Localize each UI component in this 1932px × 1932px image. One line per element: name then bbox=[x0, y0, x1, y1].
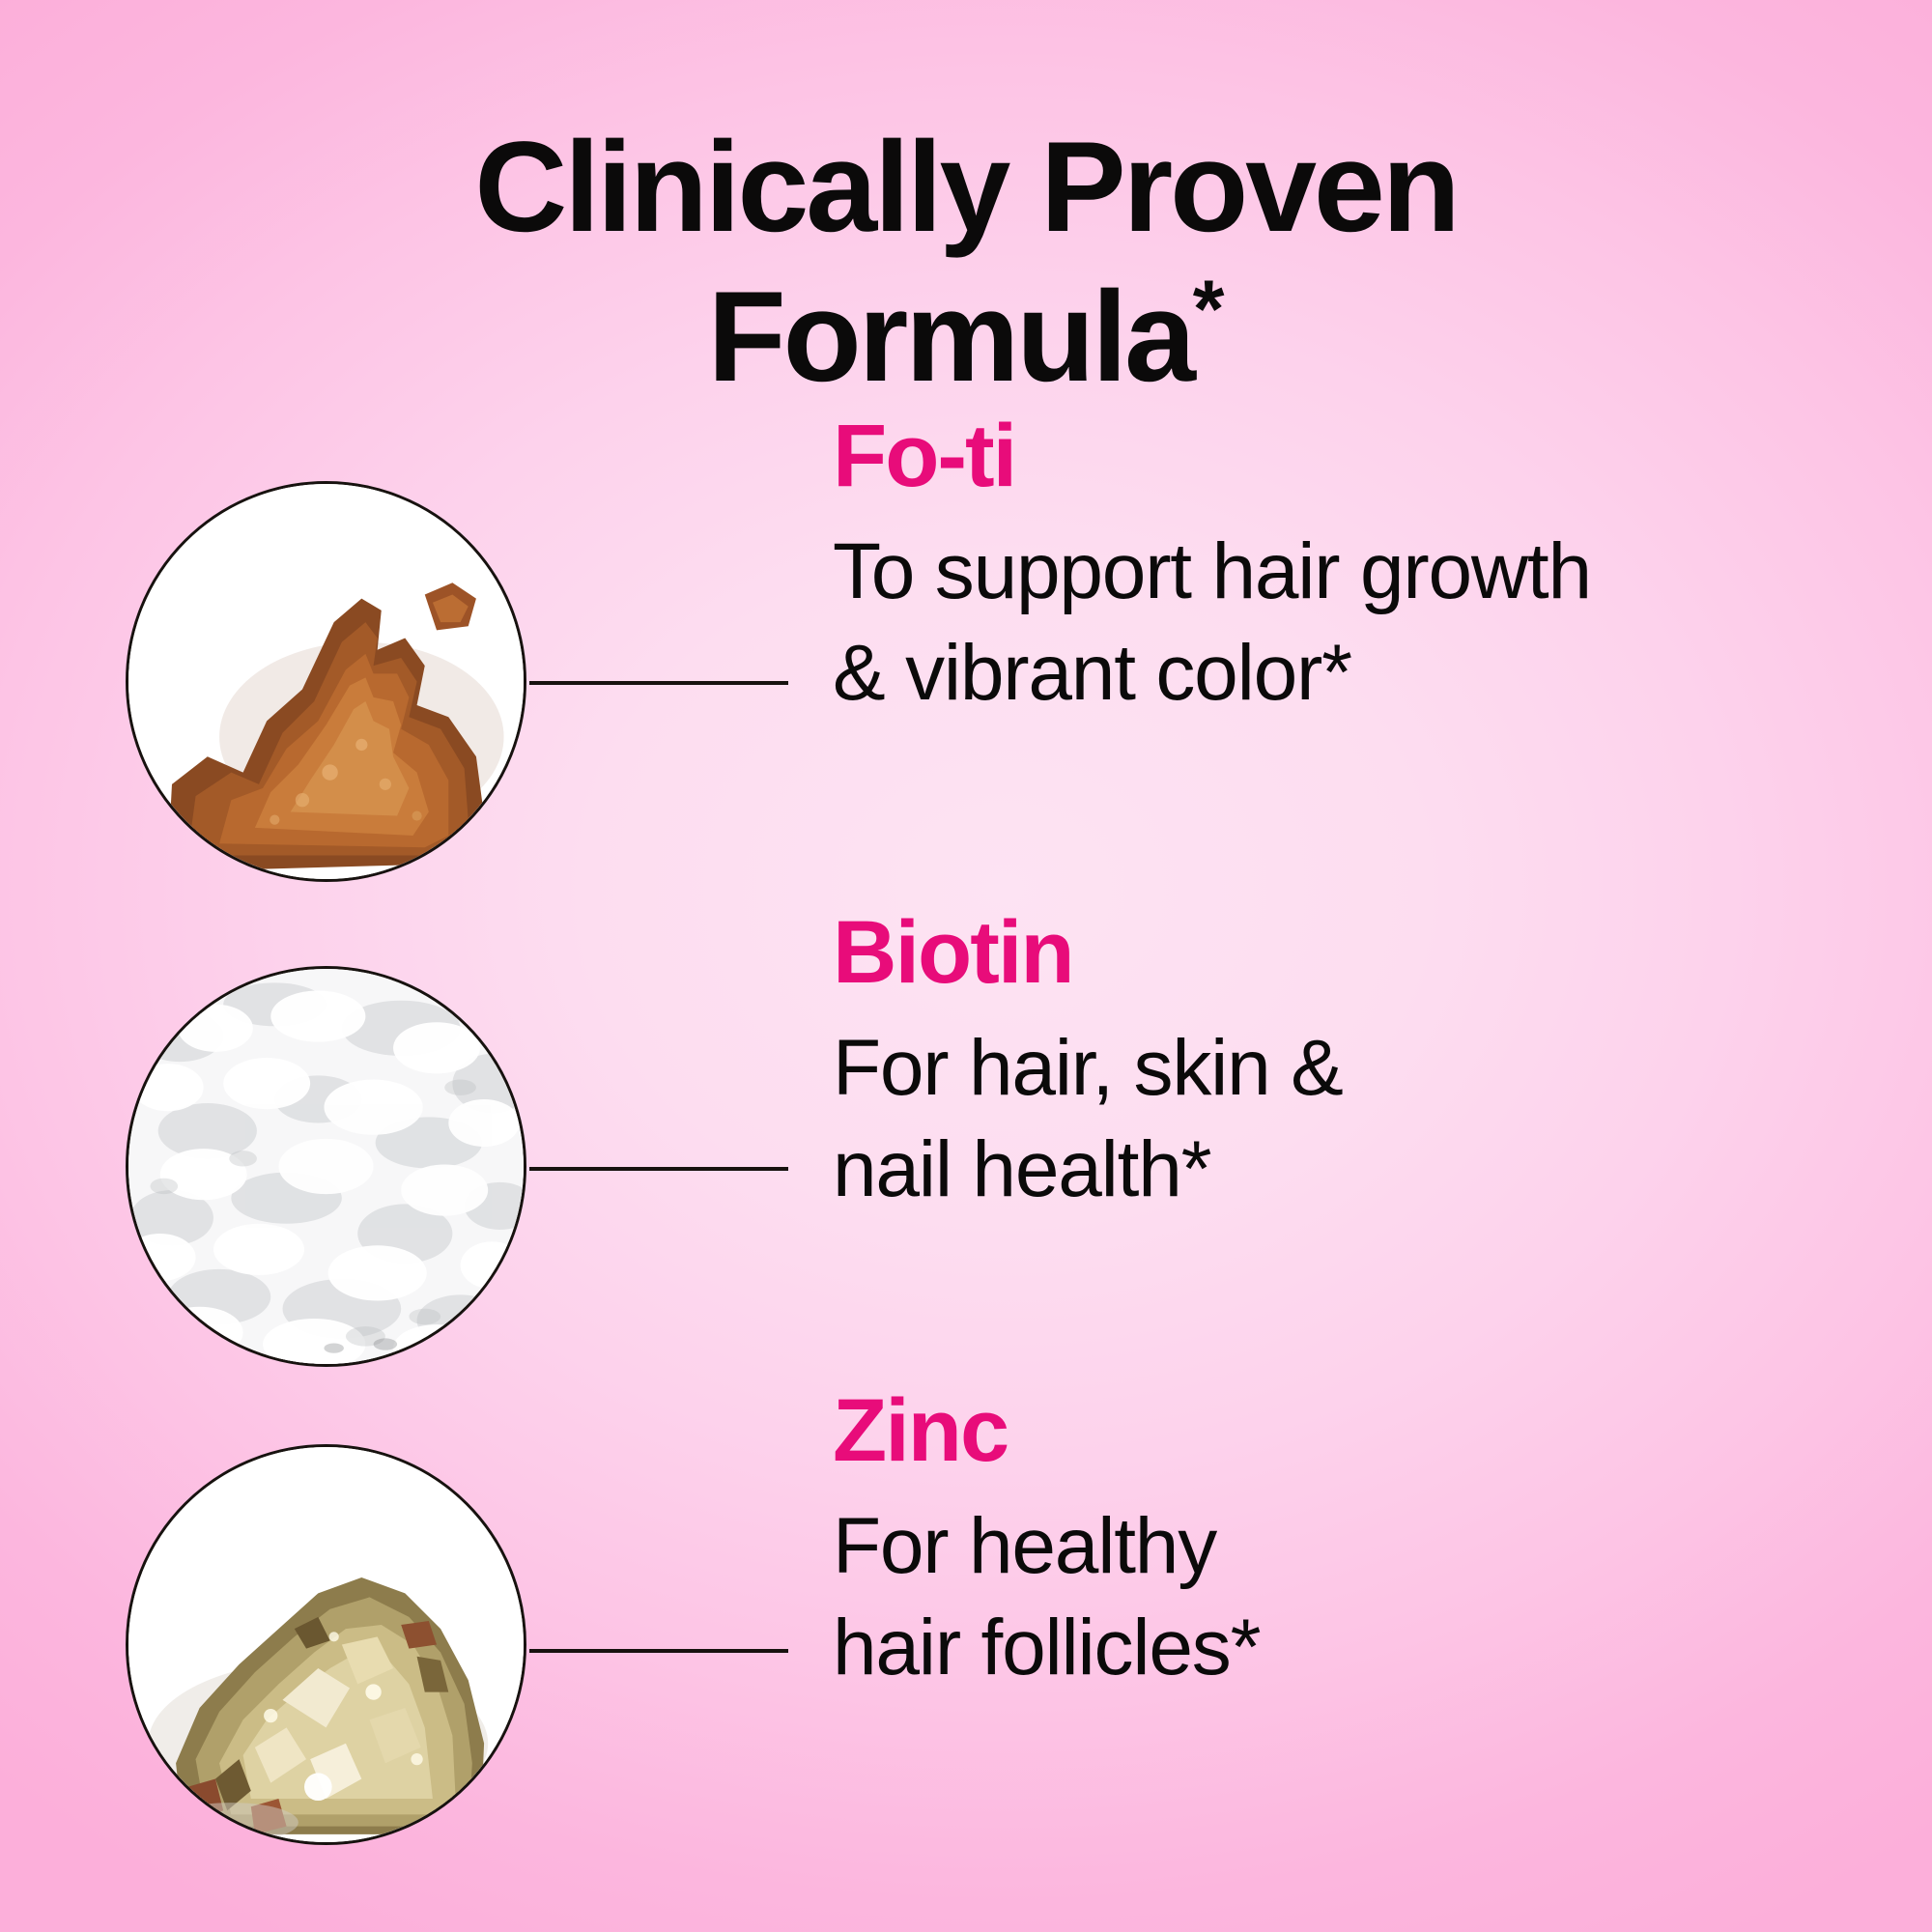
ingredient-description-line-1: For hair, skin & bbox=[833, 1018, 1876, 1120]
ingredient-row-fo-ti: Fo-ti To support hair growth & vibrant c… bbox=[0, 481, 1932, 887]
page-title-line-1: Clinically Proven bbox=[0, 124, 1932, 252]
connector-line-zinc bbox=[529, 1649, 788, 1653]
ingredient-description-line-1: To support hair growth bbox=[833, 522, 1876, 623]
ingredient-description-line-2: nail health* bbox=[833, 1120, 1876, 1221]
zinc-mineral-image bbox=[126, 1444, 526, 1845]
ingredient-description-line-2: hair follicles* bbox=[833, 1598, 1876, 1699]
ingredient-row-biotin: Biotin For hair, skin & nail health* bbox=[0, 966, 1932, 1372]
ingredient-name-biotin: Biotin bbox=[833, 908, 1876, 997]
page-title: Clinically Proven Formula* bbox=[0, 124, 1932, 402]
page-title-line-2-text: Formula bbox=[708, 266, 1193, 409]
ingredient-description-line-2: & vibrant color* bbox=[833, 623, 1876, 724]
ingredient-text-zinc: Zinc For healthy hair follicles* bbox=[833, 1386, 1876, 1699]
page-title-line-2: Formula* bbox=[0, 273, 1932, 402]
ingredient-description-line-1: For healthy bbox=[833, 1496, 1876, 1598]
ingredient-description-zinc: For healthy hair follicles* bbox=[833, 1496, 1876, 1699]
zinc-mineral-icon bbox=[128, 1447, 524, 1842]
connector-line-biotin bbox=[529, 1167, 788, 1171]
ingredient-text-fo-ti: Fo-ti To support hair growth & vibrant c… bbox=[833, 412, 1876, 724]
infographic-panel: Clinically Proven Formula* bbox=[0, 0, 1932, 1932]
ingredient-name-zinc: Zinc bbox=[833, 1386, 1876, 1475]
ingredient-name-fo-ti: Fo-ti bbox=[833, 412, 1876, 500]
ingredient-row-zinc: Zinc For healthy hair follicles* bbox=[0, 1444, 1932, 1850]
ingredient-description-biotin: For hair, skin & nail health* bbox=[833, 1018, 1876, 1221]
ingredient-description-fo-ti: To support hair growth & vibrant color* bbox=[833, 522, 1876, 724]
biotin-powder-icon bbox=[128, 969, 524, 1364]
ingredient-text-biotin: Biotin For hair, skin & nail health* bbox=[833, 908, 1876, 1221]
footnote-asterisk: * bbox=[1193, 264, 1225, 355]
biotin-powder-image bbox=[126, 966, 526, 1367]
fo-ti-root-icon bbox=[128, 484, 524, 879]
fo-ti-root-image bbox=[126, 481, 526, 882]
connector-line-fo-ti bbox=[529, 681, 788, 685]
